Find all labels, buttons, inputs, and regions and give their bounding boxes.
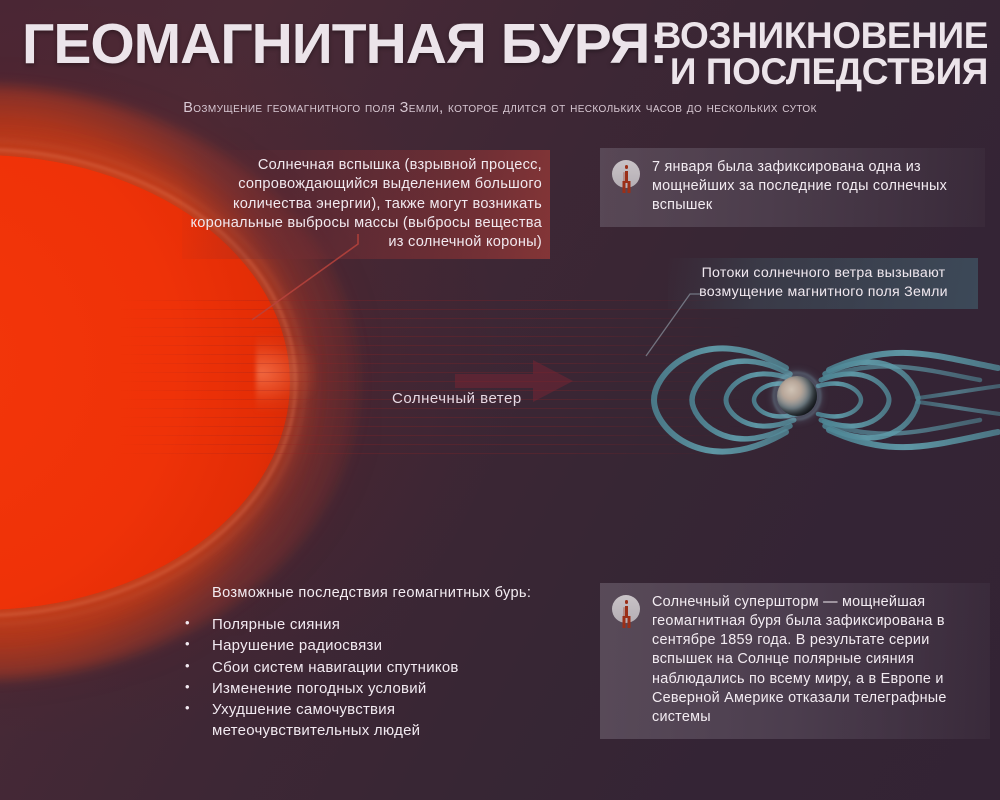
bullet-icon: • <box>178 635 212 653</box>
consequences-list: • Полярные сияния • Нарушение радиосвязи… <box>178 614 598 720</box>
info-box-superstorm-text: Солнечный супершторм — мощнейшая геомагн… <box>652 593 976 727</box>
bullet-icon: • <box>178 614 212 632</box>
page-title-secondary: ВОЗНИКНОВЕНИЕ И ПОСЛЕДСТВИЯ <box>655 18 988 89</box>
consequences-section: Возможные последствия геомагнитных бурь:… <box>178 585 598 742</box>
list-item-label: Нарушение радиосвязи <box>212 635 598 656</box>
solar-wind-label: Солнечный ветер <box>392 390 522 407</box>
list-item: • Ухудшение самочувствия <box>178 699 598 720</box>
magnetosphere-field-lines <box>618 300 1000 500</box>
list-item-continuation: метеочувствительных людей <box>212 720 598 741</box>
list-item-label: Ухудшение самочувствия <box>212 699 598 720</box>
page-subtitle: Возмущение геомагнитного поля Земли, кот… <box>0 100 1000 116</box>
infographic-poster: ГЕОМАГНИТНАЯ БУРЯ: ВОЗНИКНОВЕНИЕ И ПОСЛЕ… <box>0 0 1000 800</box>
consequences-title: Возможные последствия геомагнитных бурь: <box>212 585 598 601</box>
coronal-mass-ejection <box>256 335 316 411</box>
page-title: ГЕОМАГНИТНАЯ БУРЯ: <box>22 16 667 73</box>
bullet-icon: • <box>178 678 212 696</box>
title-bar: ГЕОМАГНИТНАЯ БУРЯ: ВОЗНИКНОВЕНИЕ И ПОСЛЕ… <box>0 0 1000 132</box>
list-item: • Нарушение радиосвязи <box>178 635 598 656</box>
list-item: • Изменение погодных условий <box>178 678 598 699</box>
list-item-label: Сбои систем навигации спутников <box>212 657 598 678</box>
info-box-flare-record: 7 января была зафиксирована одна из мощн… <box>600 148 985 227</box>
info-icon <box>612 595 640 623</box>
info-box-flare-record-text: 7 января была зафиксирована одна из мощн… <box>652 158 971 215</box>
flare-connector-line <box>230 232 360 324</box>
list-item-label: Изменение погодных условий <box>212 678 598 699</box>
bullet-icon: • <box>178 657 212 675</box>
title-line-1: ВОЗНИКНОВЕНИЕ <box>655 18 988 54</box>
title-line-2: И ПОСЛЕДСТВИЯ <box>655 54 988 90</box>
list-item: • Полярные сияния <box>178 614 598 635</box>
list-item: • Сбои систем навигации спутников <box>178 657 598 678</box>
info-icon <box>612 160 640 188</box>
list-item-label: Полярные сияния <box>212 614 598 635</box>
info-box-superstorm: Солнечный супершторм — мощнейшая геомагн… <box>600 583 990 739</box>
bullet-icon: • <box>178 699 212 717</box>
